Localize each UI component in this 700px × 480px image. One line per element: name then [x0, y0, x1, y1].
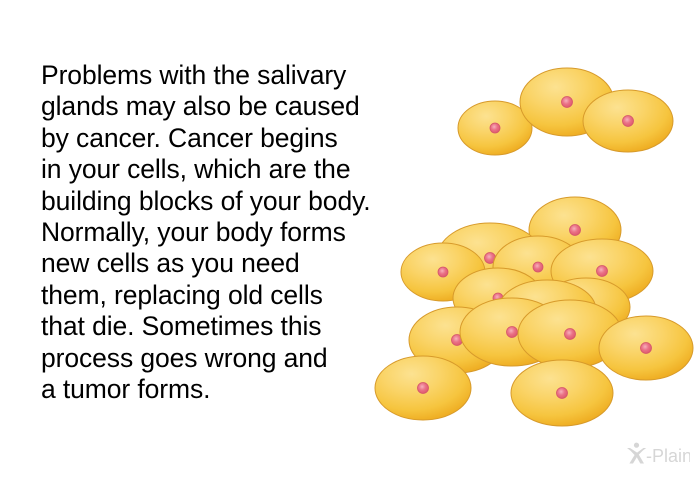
cell	[583, 90, 673, 152]
cell	[511, 360, 613, 426]
x-person-icon	[627, 443, 646, 464]
body-paragraph: Problems with the salivary glands may al…	[41, 60, 393, 405]
x-plain-logo: -Plain	[624, 442, 690, 468]
logo-text: -Plain	[646, 446, 690, 466]
cell	[599, 316, 693, 380]
cell-cluster-illustration	[390, 60, 690, 370]
page-canvas: Problems with the salivary glands may al…	[0, 0, 700, 480]
cell	[375, 356, 471, 420]
